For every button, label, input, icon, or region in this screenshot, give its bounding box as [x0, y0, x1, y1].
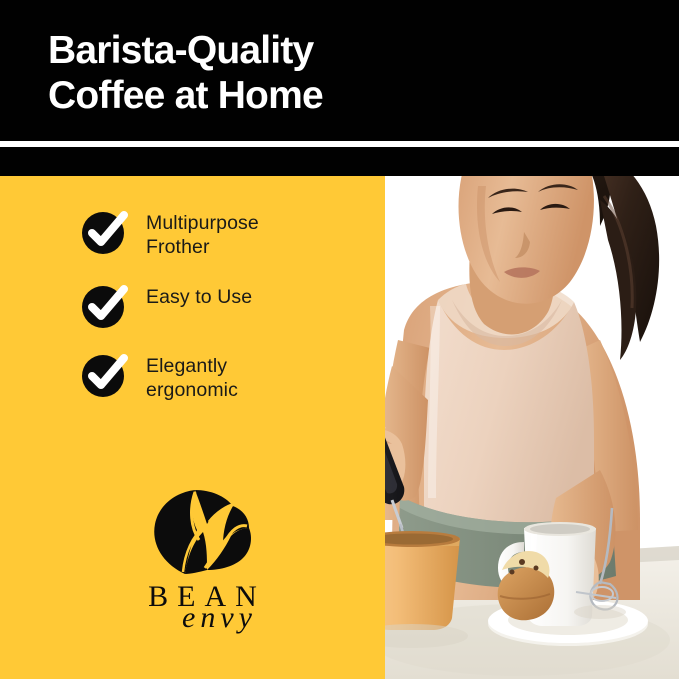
- check-icon: [82, 282, 128, 328]
- brand-logo: BEAN envy: [110, 488, 295, 638]
- orange-mug-illustration: [385, 531, 460, 630]
- product-photo: [385, 147, 679, 679]
- coffee-bean-flame-icon: [147, 488, 259, 574]
- feature-label: Elegantly ergonomic: [146, 349, 238, 402]
- product-photo-illustration: [385, 147, 679, 679]
- feature-item: Multipurpose Frother: [82, 206, 372, 259]
- feature-label: Easy to Use: [146, 280, 252, 310]
- logo-script: envy: [110, 601, 295, 635]
- feature-item: Easy to Use: [82, 280, 372, 328]
- feature-list: Multipurpose Frother Easy to Use Elegant…: [82, 206, 372, 402]
- page-title: Barista-Quality Coffee at Home: [48, 28, 518, 118]
- feature-label: Multipurpose Frother: [146, 206, 259, 259]
- product-infographic: Barista-Quality Coffee at Home Multipurp…: [0, 0, 679, 679]
- check-icon: [82, 208, 128, 254]
- check-icon: [82, 351, 128, 397]
- header-black-band-lower: [0, 147, 679, 176]
- feature-item: Elegantly ergonomic: [82, 349, 372, 402]
